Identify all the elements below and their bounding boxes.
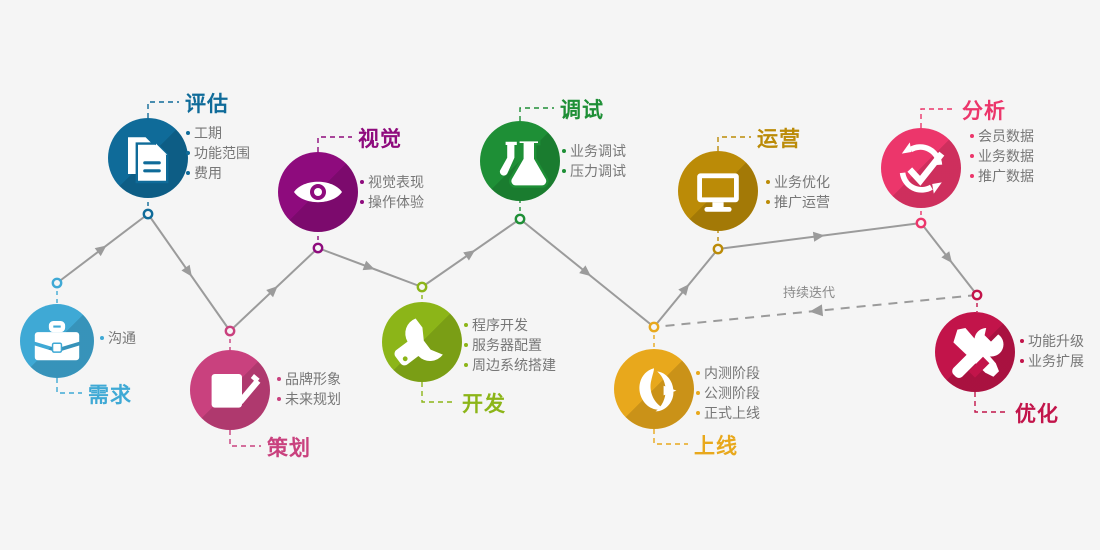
stage-title-debug: 调试 (560, 94, 604, 124)
bullet-dot-icon (360, 180, 364, 184)
title-leader-line (975, 392, 1009, 412)
vertex-ring-operation[interactable] (714, 245, 722, 253)
bullet-dot-icon (1020, 339, 1024, 343)
bullet-label: 未来规划 (285, 391, 341, 407)
title-leader-line (520, 108, 554, 121)
iteration-label: 持续迭代 (783, 282, 835, 301)
bullet-item: 业务扩展 (1020, 354, 1084, 368)
stage-title-launch: 上线 (694, 430, 738, 460)
infographic-canvas: 沟通需求工期功能范围费用评估品牌形象未来规划策划视觉表现操作体验视觉程序开发服务… (0, 0, 1100, 550)
stage-title-evaluation: 评估 (185, 88, 229, 118)
bullet-label: 公测阶段 (704, 385, 760, 401)
bullet-item: 压力调试 (562, 164, 626, 178)
bullet-dot-icon (696, 391, 700, 395)
bullet-dot-icon (766, 180, 770, 184)
bullet-item: 未来规划 (277, 392, 341, 406)
bullet-label: 视觉表现 (368, 174, 424, 190)
bullet-item: 业务优化 (766, 175, 830, 189)
bullet-label: 内测阶段 (704, 365, 760, 381)
stage-bullets-requirement: 沟通 (100, 331, 136, 351)
bullet-item: 操作体验 (360, 195, 424, 209)
stage-title-analysis: 分析 (962, 95, 1006, 125)
bullet-item: 公测阶段 (696, 386, 760, 400)
bullet-item: 品牌形象 (277, 372, 341, 386)
bullet-item: 周边系统搭建 (464, 358, 556, 372)
bullet-dot-icon (464, 323, 468, 327)
bullet-dot-icon (766, 200, 770, 204)
bullet-dot-icon (562, 169, 566, 173)
bullet-item: 工期 (186, 126, 250, 140)
stage-bullets-development: 程序开发服务器配置周边系统搭建 (464, 318, 556, 378)
bullet-dot-icon (696, 371, 700, 375)
stage-bullets-debug: 业务调试压力调试 (562, 144, 626, 184)
vertex-ring-requirement[interactable] (53, 279, 61, 287)
title-leader-line (718, 137, 751, 151)
bullet-label: 业务优化 (774, 174, 830, 190)
bullet-label: 业务调试 (570, 143, 626, 159)
bullet-dot-icon (562, 149, 566, 153)
bullet-label: 正式上线 (704, 405, 760, 421)
bullet-label: 品牌形象 (285, 371, 341, 387)
bullet-item: 服务器配置 (464, 338, 556, 352)
bullet-dot-icon (464, 363, 468, 367)
bullet-dot-icon (277, 377, 281, 381)
bullet-label: 推广运营 (774, 194, 830, 210)
bullet-item: 视觉表现 (360, 175, 424, 189)
stage-title-optimization: 优化 (1015, 398, 1059, 428)
bullet-dot-icon (696, 411, 700, 415)
title-leader-line (921, 109, 956, 128)
bullet-label: 业务扩展 (1028, 353, 1084, 369)
bullet-label: 服务器配置 (472, 337, 542, 353)
stage-bullets-planning: 品牌形象未来规划 (277, 372, 341, 412)
stage-bullets-operation: 业务优化推广运营 (766, 175, 830, 215)
stage-bullets-analysis: 会员数据业务数据推广数据 (970, 129, 1034, 189)
vertex-ring-debug[interactable] (516, 215, 524, 223)
bullet-item: 沟通 (100, 331, 136, 345)
bullet-item: 内测阶段 (696, 366, 760, 380)
bullet-dot-icon (1020, 359, 1024, 363)
stage-bullets-optimization: 功能升级业务扩展 (1020, 334, 1084, 374)
bullet-label: 功能升级 (1028, 333, 1084, 349)
vertex-ring-launch[interactable] (650, 323, 658, 331)
bullet-dot-icon (970, 134, 974, 138)
bullet-item: 会员数据 (970, 129, 1034, 143)
bullet-dot-icon (277, 397, 281, 401)
flow-vertices (0, 0, 1100, 550)
stage-title-operation: 运营 (757, 123, 801, 153)
stage-title-visual: 视觉 (358, 123, 402, 153)
bullet-dot-icon (186, 151, 190, 155)
bullet-label: 费用 (194, 165, 222, 181)
bullet-dot-icon (970, 154, 974, 158)
bullet-label: 工期 (194, 125, 222, 141)
bullet-item: 推广数据 (970, 169, 1034, 183)
bullet-item: 程序开发 (464, 318, 556, 332)
stage-title-requirement: 需求 (88, 379, 132, 409)
vertex-ring-optimization[interactable] (973, 291, 981, 299)
bullet-dot-icon (186, 131, 190, 135)
stage-bullets-launch: 内测阶段公测阶段正式上线 (696, 366, 760, 426)
bullet-label: 程序开发 (472, 317, 528, 333)
title-leader-line (318, 137, 352, 152)
title-leader-line (230, 430, 261, 446)
vertex-ring-development[interactable] (418, 283, 426, 291)
title-leader-line (57, 378, 82, 393)
vertex-ring-planning[interactable] (226, 327, 234, 335)
bullet-label: 业务数据 (978, 148, 1034, 164)
bullet-dot-icon (100, 336, 104, 340)
bullet-item: 功能范围 (186, 146, 250, 160)
bullet-item: 功能升级 (1020, 334, 1084, 348)
stage-title-development: 开发 (462, 388, 506, 418)
vertex-ring-evaluation[interactable] (144, 210, 152, 218)
bullet-label: 沟通 (108, 330, 136, 346)
bullet-item: 费用 (186, 166, 250, 180)
title-leader-line (148, 102, 179, 118)
title-leader-line (654, 429, 688, 444)
bullet-label: 压力调试 (570, 163, 626, 179)
bullet-dot-icon (970, 174, 974, 178)
bullet-label: 周边系统搭建 (472, 357, 556, 373)
bullet-label: 推广数据 (978, 168, 1034, 184)
vertex-ring-analysis[interactable] (917, 219, 925, 227)
stage-bullets-visual: 视觉表现操作体验 (360, 175, 424, 215)
bullet-item: 业务数据 (970, 149, 1034, 163)
bullet-item: 推广运营 (766, 195, 830, 209)
title-leader-line (422, 382, 456, 402)
bullet-dot-icon (464, 343, 468, 347)
bullet-label: 操作体验 (368, 194, 424, 210)
bullet-dot-icon (186, 171, 190, 175)
bullet-dot-icon (360, 200, 364, 204)
stage-bullets-evaluation: 工期功能范围费用 (186, 126, 250, 186)
bullet-item: 业务调试 (562, 144, 626, 158)
stage-title-planning: 策划 (267, 432, 311, 462)
bullet-item: 正式上线 (696, 406, 760, 420)
bullet-label: 会员数据 (978, 128, 1034, 144)
vertex-ring-visual[interactable] (314, 244, 322, 252)
bullet-label: 功能范围 (194, 145, 250, 161)
